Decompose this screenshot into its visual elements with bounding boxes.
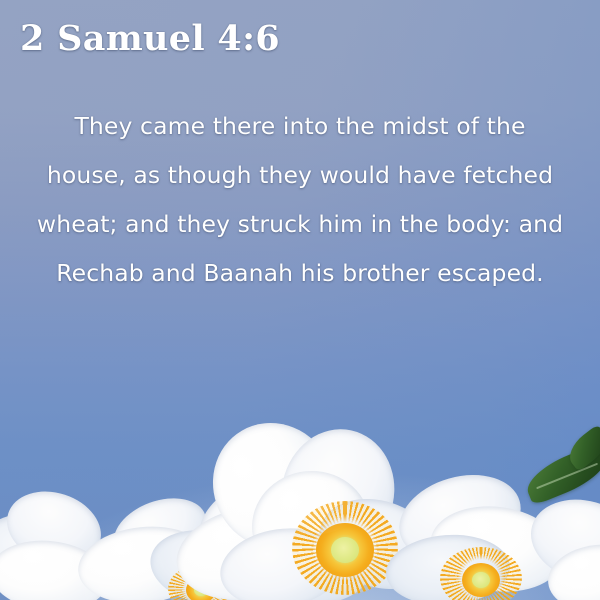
- flower-foreground: [0, 415, 600, 600]
- flower-center: [316, 523, 374, 577]
- verse-image-card: 2 Samuel 4:6 They came there into the mi…: [0, 0, 600, 600]
- verse-line: Rechab and Baanah his brother escaped.: [18, 249, 582, 298]
- flower-center: [462, 563, 500, 597]
- verse-text: They came there into the midst of the ho…: [18, 102, 582, 298]
- verse-line: They came there into the midst of the: [18, 102, 582, 151]
- page-title: 2 Samuel 4:6: [20, 18, 280, 60]
- verse-line: house, as though they would have fetched: [18, 151, 582, 200]
- verse-line: wheat; and they struck him in the body: …: [18, 200, 582, 249]
